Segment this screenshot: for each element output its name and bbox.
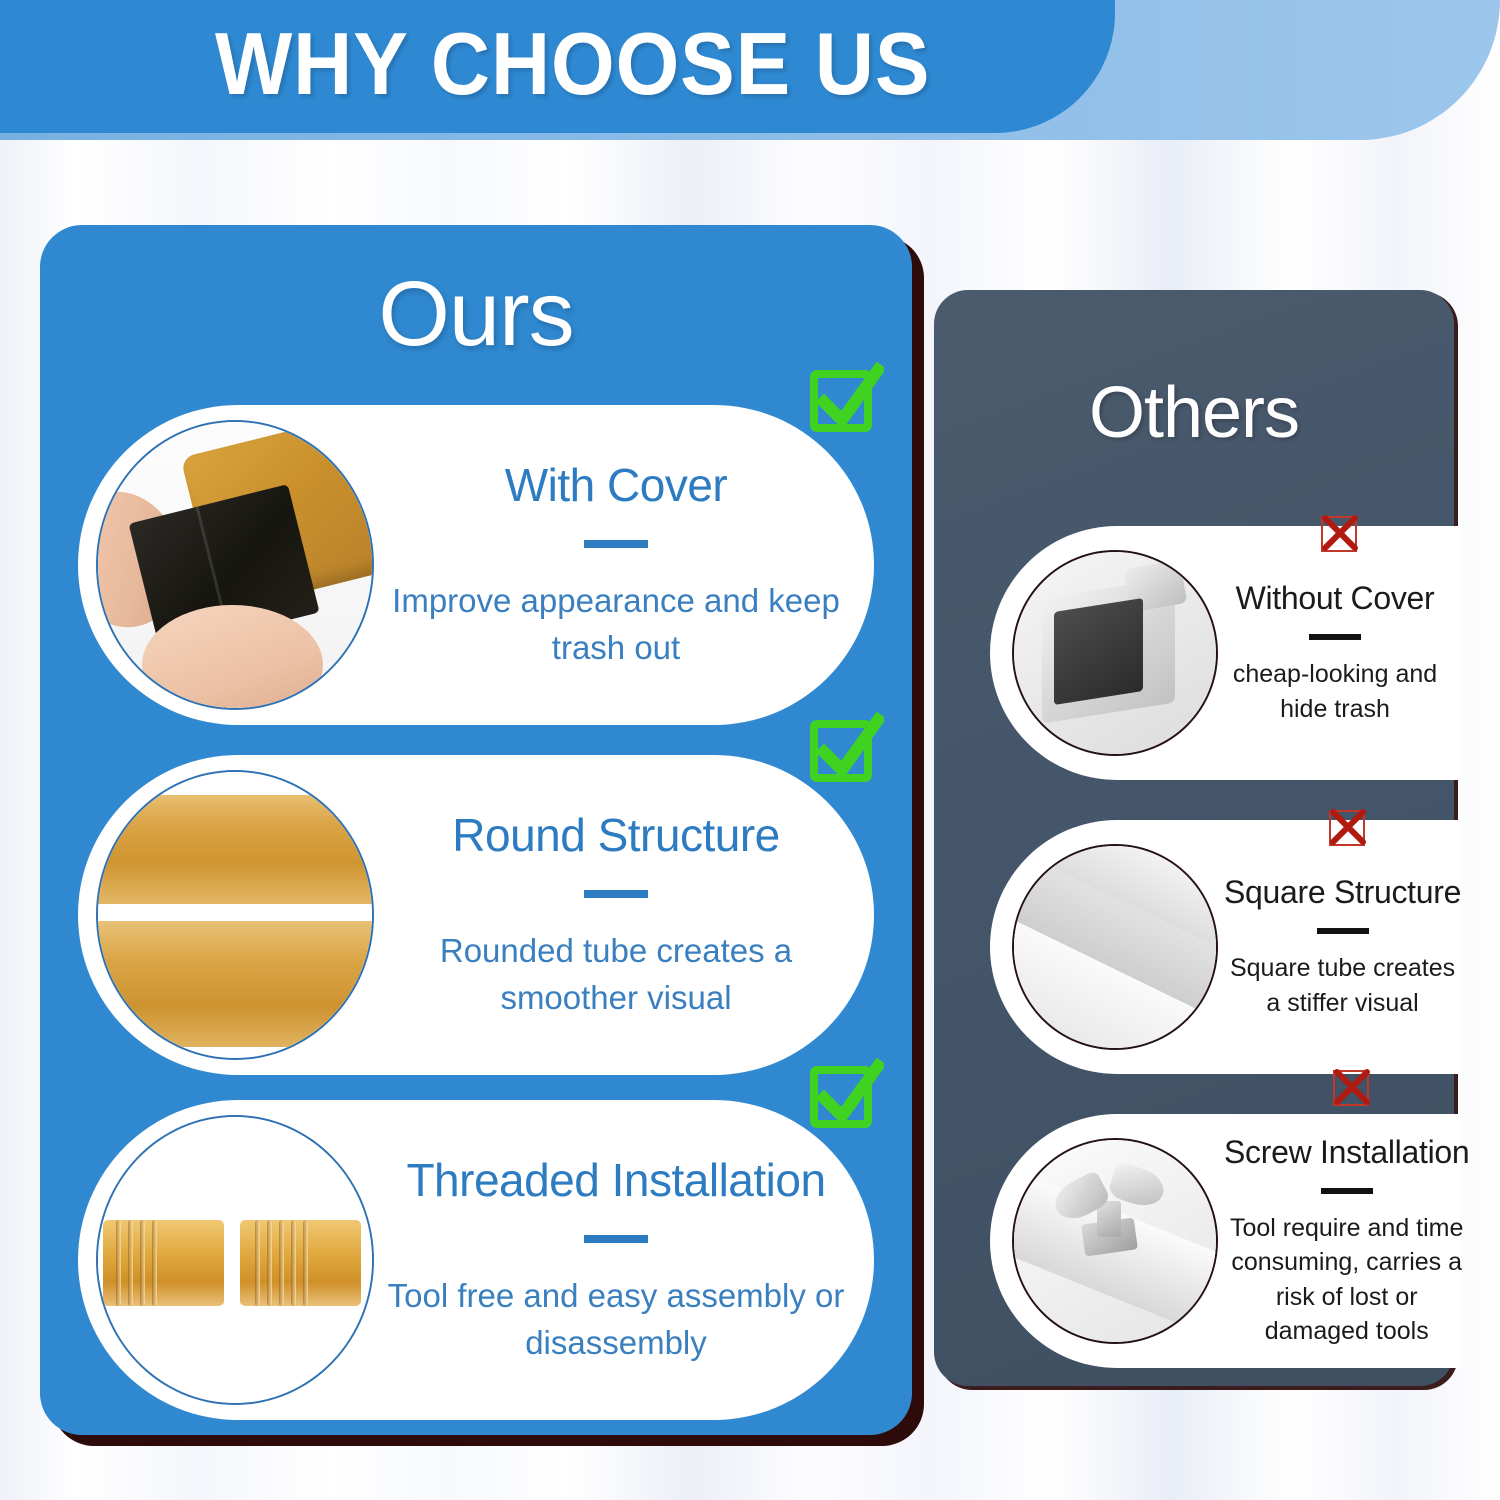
ours-feature-card: Round Structure Rounded tube creates a s… (78, 755, 874, 1075)
others-card-description: Square tube creates a stiffer visual (1224, 951, 1461, 1020)
page-title: WHY CHOOSE US (215, 14, 866, 114)
others-card-description: cheap-looking and hide trash (1224, 657, 1446, 726)
ours-card-description: Rounded tube creates a smoother visual (384, 928, 848, 1022)
x-box-icon (1331, 1068, 1371, 1108)
threaded-installation-photo (96, 1115, 374, 1405)
divider-rule (1309, 634, 1361, 640)
others-card-heading: Square Structure (1224, 874, 1461, 911)
check-box-icon (806, 712, 884, 790)
ours-feature-card: Threaded Installation Tool free and easy… (78, 1100, 874, 1420)
others-card-heading: Screw Installation (1224, 1134, 1469, 1171)
others-panel-title: Others (934, 372, 1454, 454)
x-box-icon (1319, 514, 1359, 554)
with-cover-photo (96, 420, 374, 710)
others-feature-card: Screw Installation Tool require and time… (990, 1114, 1460, 1368)
ours-card-heading: Round Structure (384, 808, 848, 862)
ours-card-heading: With Cover (384, 458, 848, 512)
x-box-icon (1327, 808, 1367, 848)
ours-card-heading: Threaded Installation (384, 1153, 848, 1207)
screw-installation-photo (1012, 1138, 1218, 1344)
check-box-icon (806, 362, 884, 440)
divider-rule (1317, 928, 1369, 934)
round-structure-photo (96, 770, 374, 1060)
others-card-description: Tool require and time consuming, carries… (1224, 1211, 1469, 1349)
square-structure-photo (1012, 844, 1218, 1050)
divider-rule (1321, 1188, 1373, 1194)
others-feature-card: Without Cover cheap-looking and hide tra… (990, 526, 1460, 780)
ours-feature-card: With Cover Improve appearance and keep t… (78, 405, 874, 725)
ours-card-description: Tool free and easy assembly or disassemb… (384, 1273, 848, 1367)
ours-card-description: Improve appearance and keep trash out (384, 578, 848, 672)
others-card-heading: Without Cover (1224, 580, 1446, 617)
ours-panel-title: Ours (40, 262, 912, 367)
others-feature-card: Square Structure Square tube creates a s… (990, 820, 1460, 1074)
divider-rule (584, 890, 648, 898)
divider-rule (584, 1235, 648, 1243)
check-box-icon (806, 1058, 884, 1136)
divider-rule (584, 540, 648, 548)
without-cover-photo (1012, 550, 1218, 756)
